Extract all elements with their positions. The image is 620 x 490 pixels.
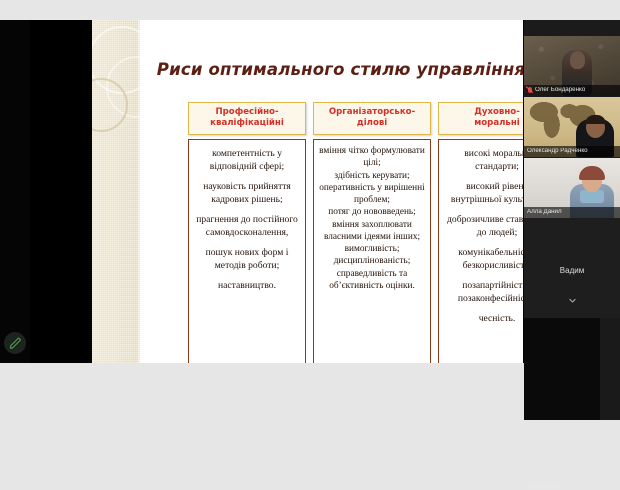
list-item: здібність керувати;	[318, 170, 426, 182]
active-speaker-pane[interactable]: Вадим	[524, 218, 620, 318]
screen-share-stage: Риси оптимального стилю управління Профе…	[0, 0, 620, 420]
column-body-organizational: вміння чітко формулювати цілі; здібність…	[313, 139, 431, 363]
participant-name: Олег Бондаренко	[535, 87, 585, 93]
column-spiritual-moral: Духовно- моральні високі моральні станда…	[438, 102, 523, 363]
pencil-icon	[9, 337, 22, 350]
list-item: комунікабельність, безкорисливість;	[443, 246, 523, 272]
list-item: вміння захоплювати власними ідеями інших…	[318, 219, 426, 244]
list-item: вимогливість;	[318, 243, 426, 255]
list-item: справедливість та об’єктивність оцінки.	[318, 268, 426, 293]
page-background-top	[0, 0, 620, 20]
column-professional-qualification: Професійно- кваліфікаційні компетентніст…	[188, 102, 306, 363]
participant-tile[interactable]: Олександр Радченко	[524, 97, 620, 157]
list-item: науковість прийняття кадрових рішень;	[193, 180, 301, 206]
list-item: пошук нових форм і методів роботи;	[193, 246, 301, 272]
columns-container: Професійно- кваліфікаційні компетентніст…	[188, 102, 523, 363]
active-speaker-name: Вадим	[524, 266, 620, 275]
column-header-professional: Професійно- кваліфікаційні	[188, 102, 306, 135]
shared-slide: Риси оптимального стилю управління Профе…	[30, 20, 523, 363]
list-item: оперативність у вирішенні проблем;	[318, 182, 426, 207]
column-header-line1: Духовно-	[441, 107, 523, 118]
column-header-line1: Організаторсько-	[316, 107, 428, 118]
list-item: наставництво.	[193, 279, 301, 292]
column-header-line2: ділові	[316, 118, 428, 129]
list-item: чесність.	[443, 312, 523, 325]
rail-control-placeholder	[528, 482, 562, 490]
slide-left-black-pad	[30, 20, 92, 363]
participant-tile[interactable]: Алла Данил	[524, 158, 620, 218]
participant-video-rail: Олег Бондаренко Олександр Радченко Алла …	[524, 20, 620, 420]
column-header-line1: Професійно-	[191, 107, 303, 118]
column-body-professional: компетентність у відповідній сфері; наук…	[188, 139, 306, 363]
participant-head	[570, 51, 585, 69]
column-body-spiritual: високі моральні стандарти; високий рівен…	[438, 139, 523, 363]
column-organizational-business: Організаторсько- ділові вміння чітко фор…	[313, 102, 431, 363]
column-header-spiritual: Духовно- моральні	[438, 102, 523, 135]
participant-name: Олександр Радченко	[527, 148, 588, 154]
list-item: дисциплінованість;	[318, 255, 426, 267]
list-item: доброзичливе ставлення до людей;	[443, 213, 523, 239]
participant-name: Алла Данил	[527, 209, 562, 215]
microphone-muted-icon	[527, 87, 533, 95]
list-item: прагнення до постійного самовдосконаленн…	[193, 213, 301, 239]
slide-title: Риси оптимального стилю управління	[156, 60, 523, 79]
list-item: позапартійність і позаконфесійність;	[443, 279, 523, 305]
participant-name-bar: Олег Бондаренко	[524, 85, 620, 96]
rail-right-edge	[600, 318, 620, 420]
participant-name-bar: Олександр Радченко	[524, 146, 620, 157]
list-item: потяг до нововведень;	[318, 206, 426, 218]
column-header-line2: кваліфікаційні	[191, 118, 303, 129]
chevron-down-icon[interactable]	[568, 296, 577, 305]
column-header-line2: моральні	[441, 118, 523, 129]
participant-hair	[585, 115, 606, 124]
list-item: вміння чітко формулювати цілі;	[318, 145, 426, 170]
participant-name-bar: Алла Данил	[524, 207, 620, 218]
slide-decorative-band	[92, 20, 140, 363]
annotate-button[interactable]	[4, 332, 26, 354]
list-item: компетентність у відповідній сфері;	[193, 147, 301, 173]
participant-tile[interactable]: Олег Бондаренко	[524, 36, 620, 96]
list-item: високий рівень внутрішньої культури;	[443, 180, 523, 206]
list-item: високі моральні стандарти;	[443, 147, 523, 173]
column-header-organizational: Організаторсько- ділові	[313, 102, 431, 135]
